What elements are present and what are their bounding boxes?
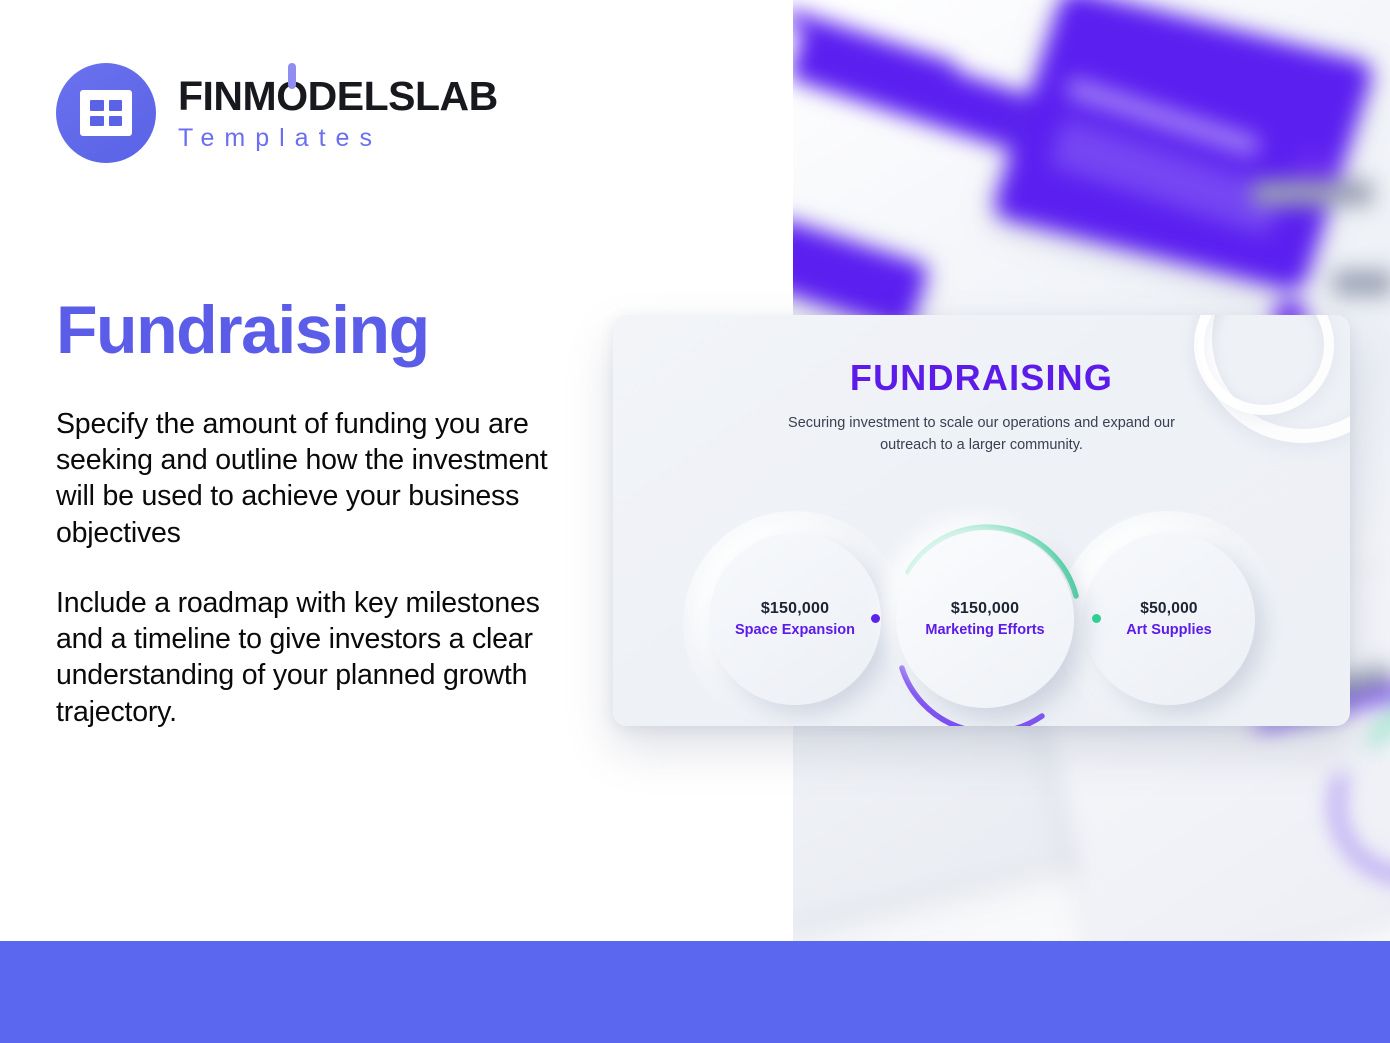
funding-amount: $150,000 [761, 600, 829, 618]
grid-cell [90, 100, 104, 111]
grid-cell [109, 116, 123, 127]
body-paragraph-2: Include a roadmap with key milestones an… [56, 585, 566, 730]
body-paragraph-1: Specify the amount of funding you are se… [56, 406, 566, 551]
preview-subtitle: Securing investment to scale our operati… [762, 413, 1202, 457]
funding-item-marketing-efforts[interactable]: $150,000 Marketing Efforts [896, 530, 1074, 708]
funding-item-art-supplies[interactable]: $50,000 Art Supplies [1083, 533, 1255, 705]
brand-name-part2: DELSLAB [308, 76, 498, 117]
grid-cell [109, 100, 123, 111]
photo-shape-purple-bar [793, 23, 1044, 155]
connector-dot-green-icon [1092, 614, 1101, 623]
grid-2x2-icon [80, 90, 132, 136]
grid-cell [90, 116, 104, 127]
slide-preview-card[interactable]: FUNDRAISING Securing investment to scale… [613, 315, 1350, 726]
funding-amount: $150,000 [951, 600, 1019, 618]
page-title: Fundraising [56, 296, 429, 364]
funding-allocation-diagram: $150,000 Space Expansion $150,000 Market… [613, 511, 1350, 721]
brand-logo[interactable]: FINM O DELSLAB Templates [56, 63, 498, 163]
brand-name-part1: FINM [178, 76, 276, 117]
photo-shape-purple-panel [990, 0, 1375, 293]
funding-label: Space Expansion [735, 622, 855, 638]
power-button-o-icon: O [276, 76, 307, 117]
power-bar-icon [288, 63, 296, 89]
preview-title: FUNDRAISING [613, 357, 1350, 399]
connector-dot-purple-icon [871, 614, 880, 623]
funding-amount: $50,000 [1140, 600, 1197, 618]
brand-wordmark: FINM O DELSLAB Templates [178, 76, 498, 151]
photo-shape-grey-bar-2 [1253, 180, 1373, 206]
slide-page: FUNDRAISING Securing investment to scale… [0, 0, 1390, 1043]
brand-name: FINM O DELSLAB [178, 76, 498, 117]
funding-item-space-expansion[interactable]: $150,000 Space Expansion [709, 533, 881, 705]
funding-label: Marketing Efforts [925, 622, 1044, 638]
footer-bar [0, 941, 1390, 1043]
brand-subtitle: Templates [178, 126, 498, 151]
funding-label: Art Supplies [1126, 622, 1211, 638]
photo-shape-grey-bar-3 [1333, 270, 1390, 296]
logo-circle-icon [56, 63, 156, 163]
